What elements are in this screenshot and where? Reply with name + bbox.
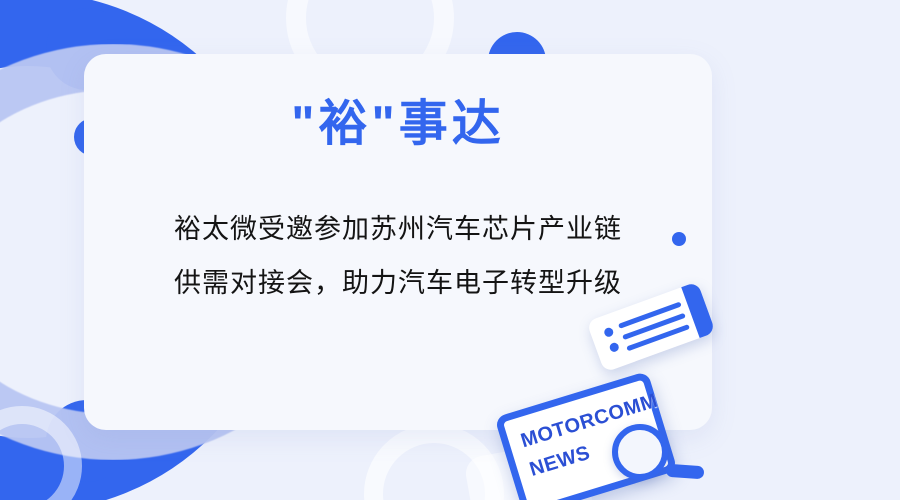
poster-canvas: "裕"事达 裕太微受邀参加苏州汽车芯片产业链 供需对接会，助力汽车电子转型升级 …: [0, 0, 900, 500]
headline-line-2: 供需对接会，助力汽车电子转型升级: [84, 256, 712, 310]
headline-line-1: 裕太微受邀参加苏州汽车芯片产业链: [84, 202, 712, 256]
page-title: "裕"事达: [84, 100, 712, 149]
document-bullet-dot-1: [603, 326, 615, 338]
magnifier-icon: [612, 424, 668, 480]
magnifier-handle-icon: [666, 464, 705, 480]
headline-body-text: 裕太微受邀参加苏州汽车芯片产业链 供需对接会，助力汽车电子转型升级: [84, 202, 712, 310]
accent-dot-beside-headline: [672, 232, 686, 246]
content-card: "裕"事达 裕太微受邀参加苏州汽车芯片产业链 供需对接会，助力汽车电子转型升级: [84, 54, 712, 430]
document-bullet-dot-2: [608, 342, 620, 354]
